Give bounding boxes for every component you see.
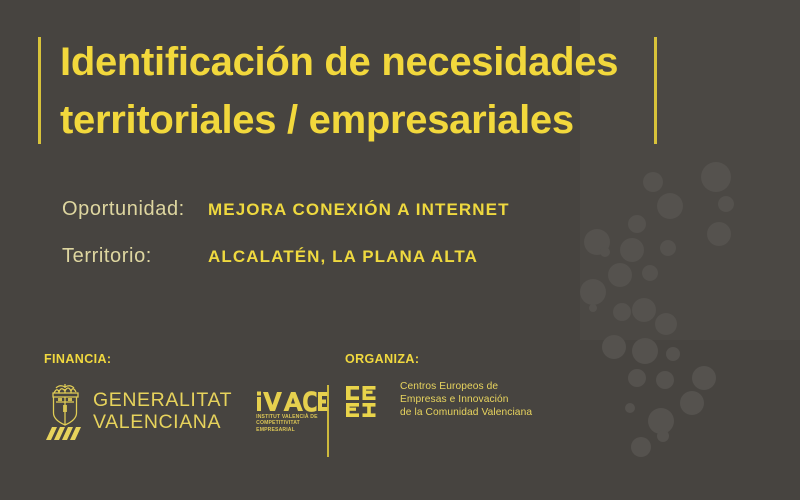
ivace-subtitle: INSTITUT VALENCIÀ DE COMPETITIVITAT EMPR… — [256, 414, 332, 434]
decorative-dot — [628, 369, 646, 387]
decorative-dot — [632, 338, 658, 364]
decorative-dot — [657, 430, 669, 442]
decorative-dot — [648, 408, 674, 434]
generalitat-valenciana-wordmark: GENERALITAT VALENCIANA — [93, 389, 232, 433]
decorative-dot — [660, 240, 676, 256]
generalitat-crest-icon — [44, 380, 86, 442]
decorative-dot — [631, 437, 651, 457]
detail-value-oportunidad: MEJORA CONEXIÓN A INTERNET — [208, 200, 510, 220]
detail-label-oportunidad: Oportunidad: — [62, 198, 208, 221]
detail-row-territorio: Territorio: ALCALATÉN, LA PLANA ALTA — [62, 245, 582, 268]
decorative-dot — [643, 172, 663, 192]
decorative-dot — [718, 196, 734, 212]
decorative-dot — [655, 313, 677, 335]
decorative-dot — [608, 263, 632, 287]
decorative-dot — [602, 335, 626, 359]
decorative-dot — [692, 366, 716, 390]
decorative-dot — [600, 247, 610, 257]
decorative-dot — [580, 279, 606, 305]
decorative-dot — [701, 162, 731, 192]
decorative-dot — [628, 215, 646, 233]
detail-list: Oportunidad: MEJORA CONEXIÓN A INTERNET … — [62, 198, 582, 292]
organiza-section: ORGANIZA: — [345, 352, 532, 420]
decorative-dot — [613, 303, 631, 321]
decorative-dot — [657, 193, 683, 219]
title-block: Identificación de necesidades territoria… — [38, 33, 658, 148]
title-rule-right-icon — [654, 37, 657, 144]
financia-logo-row: GENERALITAT VALENCIANA — [44, 380, 332, 442]
ivace-logo: INSTITUT VALENCIÀ DE COMPETITIVITAT EMPR… — [256, 389, 332, 434]
decorative-dot — [584, 229, 610, 255]
organiza-logo-row: Centros Europeos de Empresas e Innovació… — [345, 380, 532, 420]
decorative-dot — [656, 371, 674, 389]
decorative-dot — [625, 403, 635, 413]
decorative-dot — [642, 265, 658, 281]
decorative-dot — [632, 298, 656, 322]
generalitat-valenciana-logo: GENERALITAT VALENCIANA — [44, 380, 232, 442]
decorative-dot — [589, 304, 597, 312]
ceei-mark-icon — [345, 383, 391, 417]
decorative-dot — [707, 222, 731, 246]
title-rule-left-icon — [38, 37, 41, 144]
detail-value-territorio: ALCALATÉN, LA PLANA ALTA — [208, 247, 478, 267]
ceei-logo: Centros Europeos de Empresas e Innovació… — [345, 380, 532, 420]
decorative-dot — [680, 391, 704, 415]
detail-label-territorio: Territorio: — [62, 245, 208, 268]
slide-canvas: Identificación de necesidades territoria… — [0, 0, 800, 500]
detail-row-oportunidad: Oportunidad: MEJORA CONEXIÓN A INTERNET — [62, 198, 582, 221]
footer: FINANCIA: — [44, 352, 564, 472]
decorative-dot — [666, 347, 680, 361]
ivace-wordmark-icon — [256, 391, 328, 412]
ceei-wordmark: Centros Europeos de Empresas e Innovació… — [400, 380, 532, 420]
decorative-dot — [620, 238, 644, 262]
organiza-heading: ORGANIZA: — [345, 352, 532, 366]
financia-section: FINANCIA: — [44, 352, 332, 442]
page-title: Identificación de necesidades territoria… — [60, 33, 640, 149]
financia-heading: FINANCIA: — [44, 352, 332, 366]
